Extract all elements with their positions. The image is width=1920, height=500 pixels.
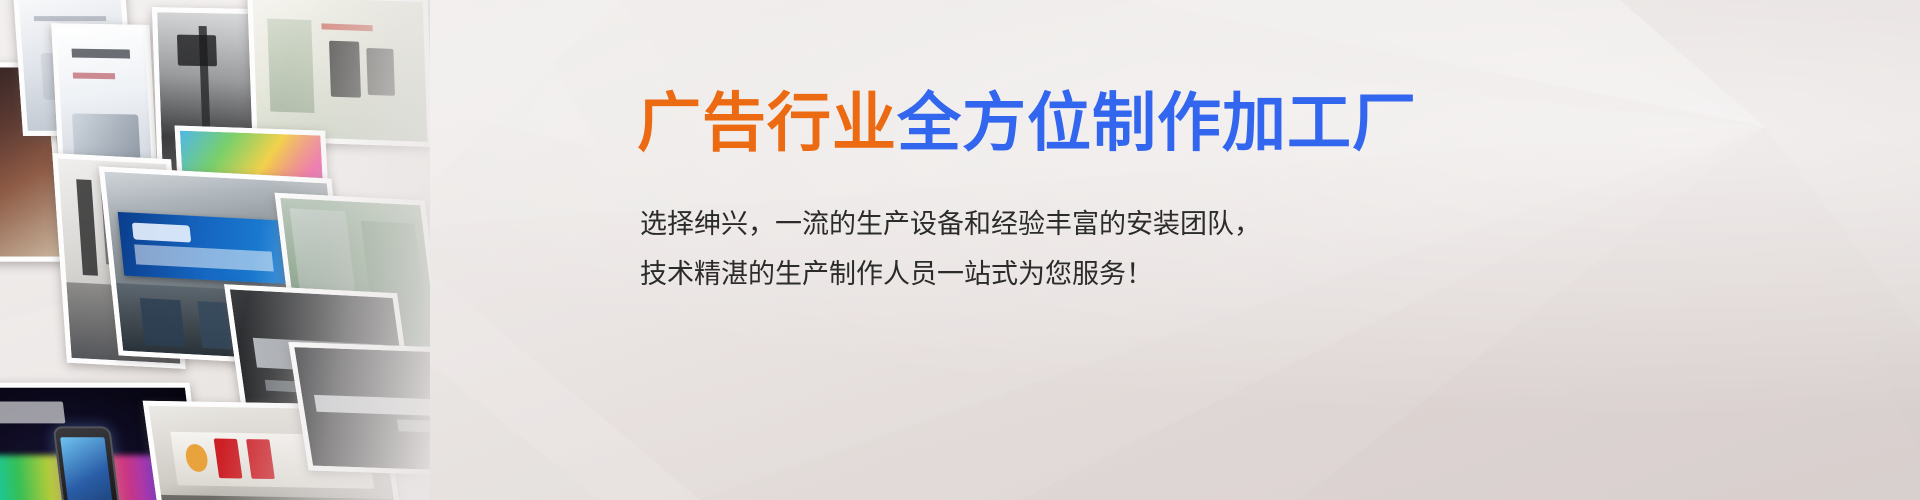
photo-vehicle-wrap: [288, 342, 430, 476]
headline-orange-part: 广告行业: [637, 87, 897, 161]
photo-collage: [0, 0, 430, 500]
promo-banner: 广告行业全方位制作加工厂 选择绅兴，一流的生产设备和经验丰富的安装团队， 技术精…: [0, 0, 1920, 500]
subtitle-block: 选择绅兴，一流的生产设备和经验丰富的安装团队， 技术精湛的生产制作人员一站式为您…: [640, 200, 1261, 300]
headline-blue-part: 全方位制作加工厂: [897, 87, 1417, 161]
subtitle-line-2: 技术精湛的生产制作人员一站式为您服务！: [640, 250, 1261, 300]
subtitle-line-1: 选择绅兴，一流的生产设备和经验丰富的安装团队，: [640, 200, 1261, 250]
photo-calligraphy-sign: [247, 0, 430, 147]
page-title: 广告行业全方位制作加工厂: [637, 92, 1417, 156]
